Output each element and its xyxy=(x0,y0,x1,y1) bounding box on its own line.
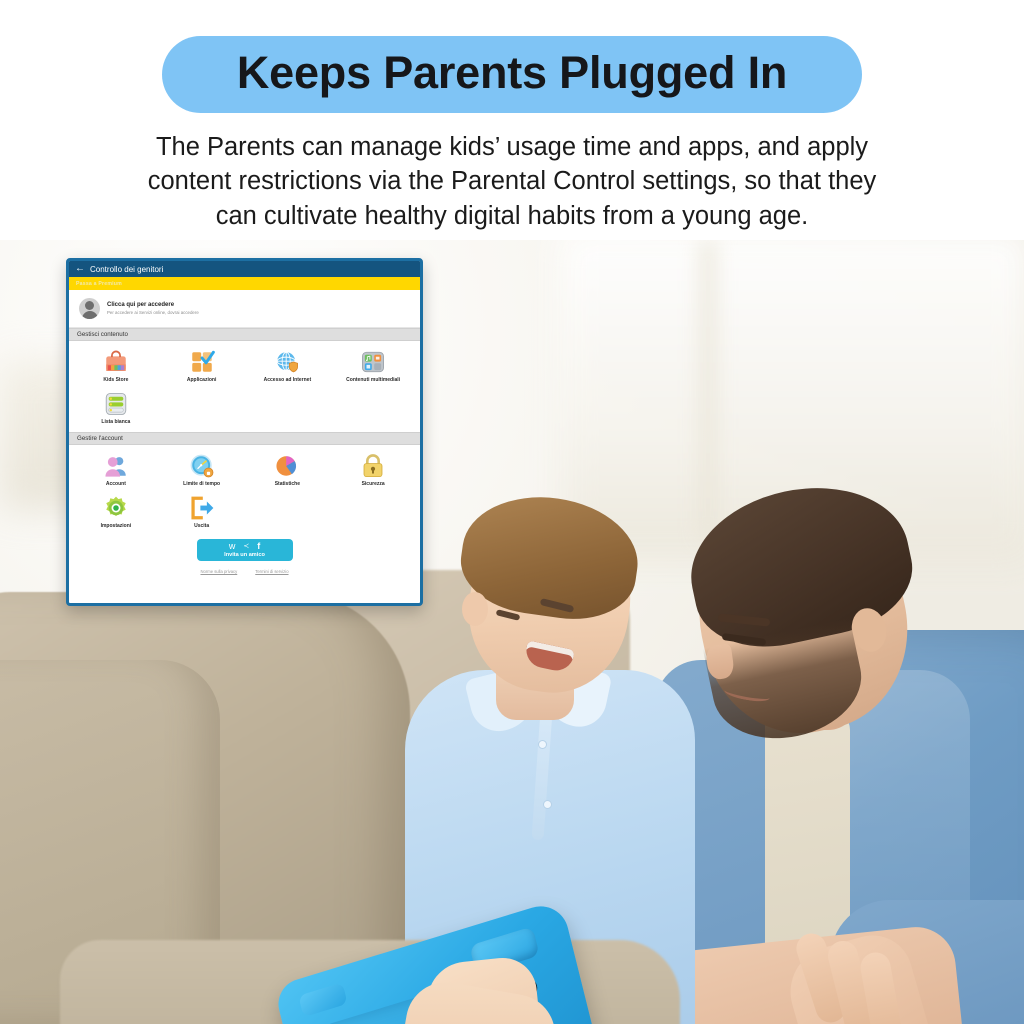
title-banner-wrapper: Keeps Parents Plugged In xyxy=(0,36,1024,113)
tile-media-content[interactable]: Contenuti multimediali xyxy=(330,346,416,388)
shopping-bag-icon xyxy=(103,349,129,375)
subtitle-line-3: can cultivate healthy digital habits fro… xyxy=(60,199,964,233)
subtitle-line-2: content restrictions via the Parental Co… xyxy=(60,164,964,198)
login-prompt-title: Clicca qui per accedere xyxy=(107,302,199,308)
tile-whitelist[interactable]: Lista bianca xyxy=(73,388,159,430)
back-arrow-icon[interactable]: ← xyxy=(75,264,85,274)
whitelist-icon xyxy=(103,391,129,417)
gear-icon xyxy=(103,495,129,521)
invite-button-wrapper: w ≺ f Invita un amico xyxy=(69,536,420,563)
globe-shield-icon xyxy=(274,349,300,375)
title-banner: Keeps Parents Plugged In xyxy=(162,36,862,113)
login-prompt-row[interactable]: Clicca qui per accedere Per accedere ai … xyxy=(69,290,420,328)
pie-chart-icon xyxy=(274,453,300,479)
users-icon xyxy=(103,453,129,479)
lock-icon xyxy=(360,453,386,479)
subtitle-line-1: The Parents can manage kids’ usage time … xyxy=(60,130,964,164)
section-header-manage-account: Gestire l'account xyxy=(69,432,420,445)
avatar xyxy=(79,298,100,319)
premium-banner[interactable]: Passa a Premium xyxy=(69,277,420,290)
media-folder-icon xyxy=(360,349,386,375)
tile-label: Lista bianca xyxy=(101,420,130,426)
terms-of-service-link[interactable]: Termini di servizio xyxy=(255,569,288,574)
exit-icon xyxy=(189,495,215,521)
tile-security[interactable]: Sicurezza xyxy=(330,450,416,492)
tile-account[interactable]: Account xyxy=(73,450,159,492)
tile-kids-store[interactable]: Kids Store xyxy=(73,346,159,388)
privacy-policy-link[interactable]: Norme sulla privacy xyxy=(200,569,237,574)
tile-label: Uscita xyxy=(194,524,209,530)
tile-applications[interactable]: Applicazioni xyxy=(159,346,245,388)
subtitle-block: The Parents can manage kids’ usage time … xyxy=(60,130,964,233)
invite-social-icons: w ≺ f xyxy=(229,542,260,551)
tile-settings[interactable]: Impostazioni xyxy=(73,492,159,534)
tile-label: Impostazioni xyxy=(101,524,132,530)
app-header-bar: ← Controllo dei genitori xyxy=(69,261,420,277)
share-icon[interactable]: ≺ xyxy=(243,543,249,550)
twitter-icon[interactable]: w xyxy=(229,542,236,551)
tile-label: Contenuti multimediali xyxy=(346,378,400,384)
account-tiles-grid: Account Limite di tempo Statistiche xyxy=(69,445,420,536)
boy-shirt-button xyxy=(538,740,547,749)
tablet-case-nub xyxy=(298,982,347,1017)
tile-exit[interactable]: Uscita xyxy=(159,492,245,534)
tile-label: Applicazioni xyxy=(187,378,216,384)
boy-ear xyxy=(462,592,488,626)
page-title: Keeps Parents Plugged In xyxy=(218,46,806,99)
tile-label: Kids Store xyxy=(103,378,128,384)
tile-label: Accesso ad Internet xyxy=(264,378,312,384)
section-header-manage-content: Gestisci contenuto xyxy=(69,328,420,341)
app-header-title: Controllo dei genitori xyxy=(90,265,163,274)
section-label: Gestire l'account xyxy=(77,435,123,442)
tile-label: Limite di tempo xyxy=(183,482,220,488)
footer-links: Norme sulla privacy Termini di servizio xyxy=(69,563,420,579)
invite-friend-label: Invita un amico xyxy=(224,552,265,558)
section-label: Gestisci contenuto xyxy=(77,331,128,338)
invite-friend-button[interactable]: w ≺ f Invita un amico xyxy=(197,539,293,561)
login-prompt-texts: Clicca qui per accedere Per accedere ai … xyxy=(107,302,199,315)
tile-label: Sicurezza xyxy=(362,482,385,488)
parental-control-screenshot: ← Controllo dei genitori Passa a Premium… xyxy=(66,258,423,606)
background-window-frame xyxy=(700,240,716,540)
tile-label: Account xyxy=(106,482,126,488)
boy-shirt-button xyxy=(543,800,552,809)
tile-internet-access[interactable]: Accesso ad Internet xyxy=(245,346,331,388)
tile-time-limit[interactable]: Limite di tempo xyxy=(159,450,245,492)
premium-banner-label: Passa a Premium xyxy=(76,281,122,287)
facebook-icon[interactable]: f xyxy=(257,542,260,551)
login-prompt-subtitle: Per accedere ai Servizi online, dovrai a… xyxy=(107,310,199,315)
tile-label: Statistiche xyxy=(275,482,300,488)
apps-checkmark-icon xyxy=(189,349,215,375)
tile-statistics[interactable]: Statistiche xyxy=(245,450,331,492)
content-tiles-grid: Kids Store Applicazioni xyxy=(69,341,420,432)
time-limit-icon xyxy=(189,453,215,479)
